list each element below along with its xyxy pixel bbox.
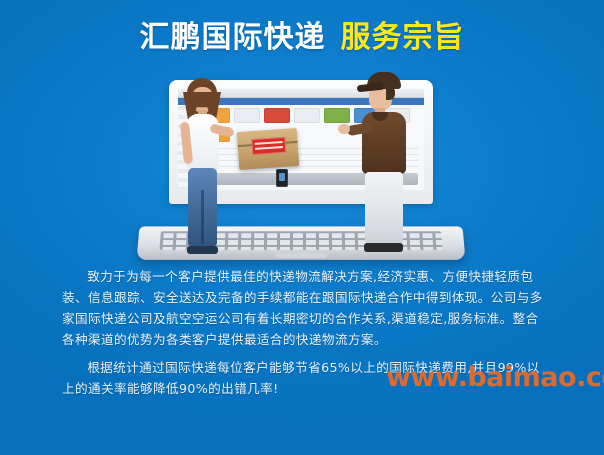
hero-illustration (130, 72, 480, 260)
screen-tile (264, 108, 290, 123)
courier-uniform-shirt (362, 112, 406, 174)
screen-tile (324, 108, 350, 123)
title-subject: 服务宗旨 (341, 20, 465, 55)
title-company-name: 汇鹏国际快递 (139, 20, 325, 55)
courier-shoes (364, 243, 403, 252)
promotional-poster: 汇鹏国际快递 服务宗旨 (0, 0, 604, 455)
customer-person-icon (178, 78, 230, 256)
paragraph-service-commitment: 致力于为每一个客户提供最佳的快递物流解决方案,经济实惠、方便快捷轻质包装、信息跟… (62, 266, 548, 350)
customer-shoes (187, 246, 218, 254)
screen-tile (234, 108, 260, 123)
site-watermark: www.baimao.com (386, 362, 604, 393)
courier-hand (338, 124, 350, 134)
package-box-icon (237, 128, 300, 170)
mobile-phone-icon (276, 169, 288, 187)
courier-pants (365, 172, 403, 244)
page-title: 汇鹏国际快递 服务宗旨 (0, 23, 604, 53)
screen-tile (294, 108, 320, 123)
package-shipping-label (251, 137, 286, 155)
courier-person-icon (355, 72, 417, 258)
laptop-trackpad (275, 253, 327, 258)
customer-jeans (188, 168, 217, 246)
